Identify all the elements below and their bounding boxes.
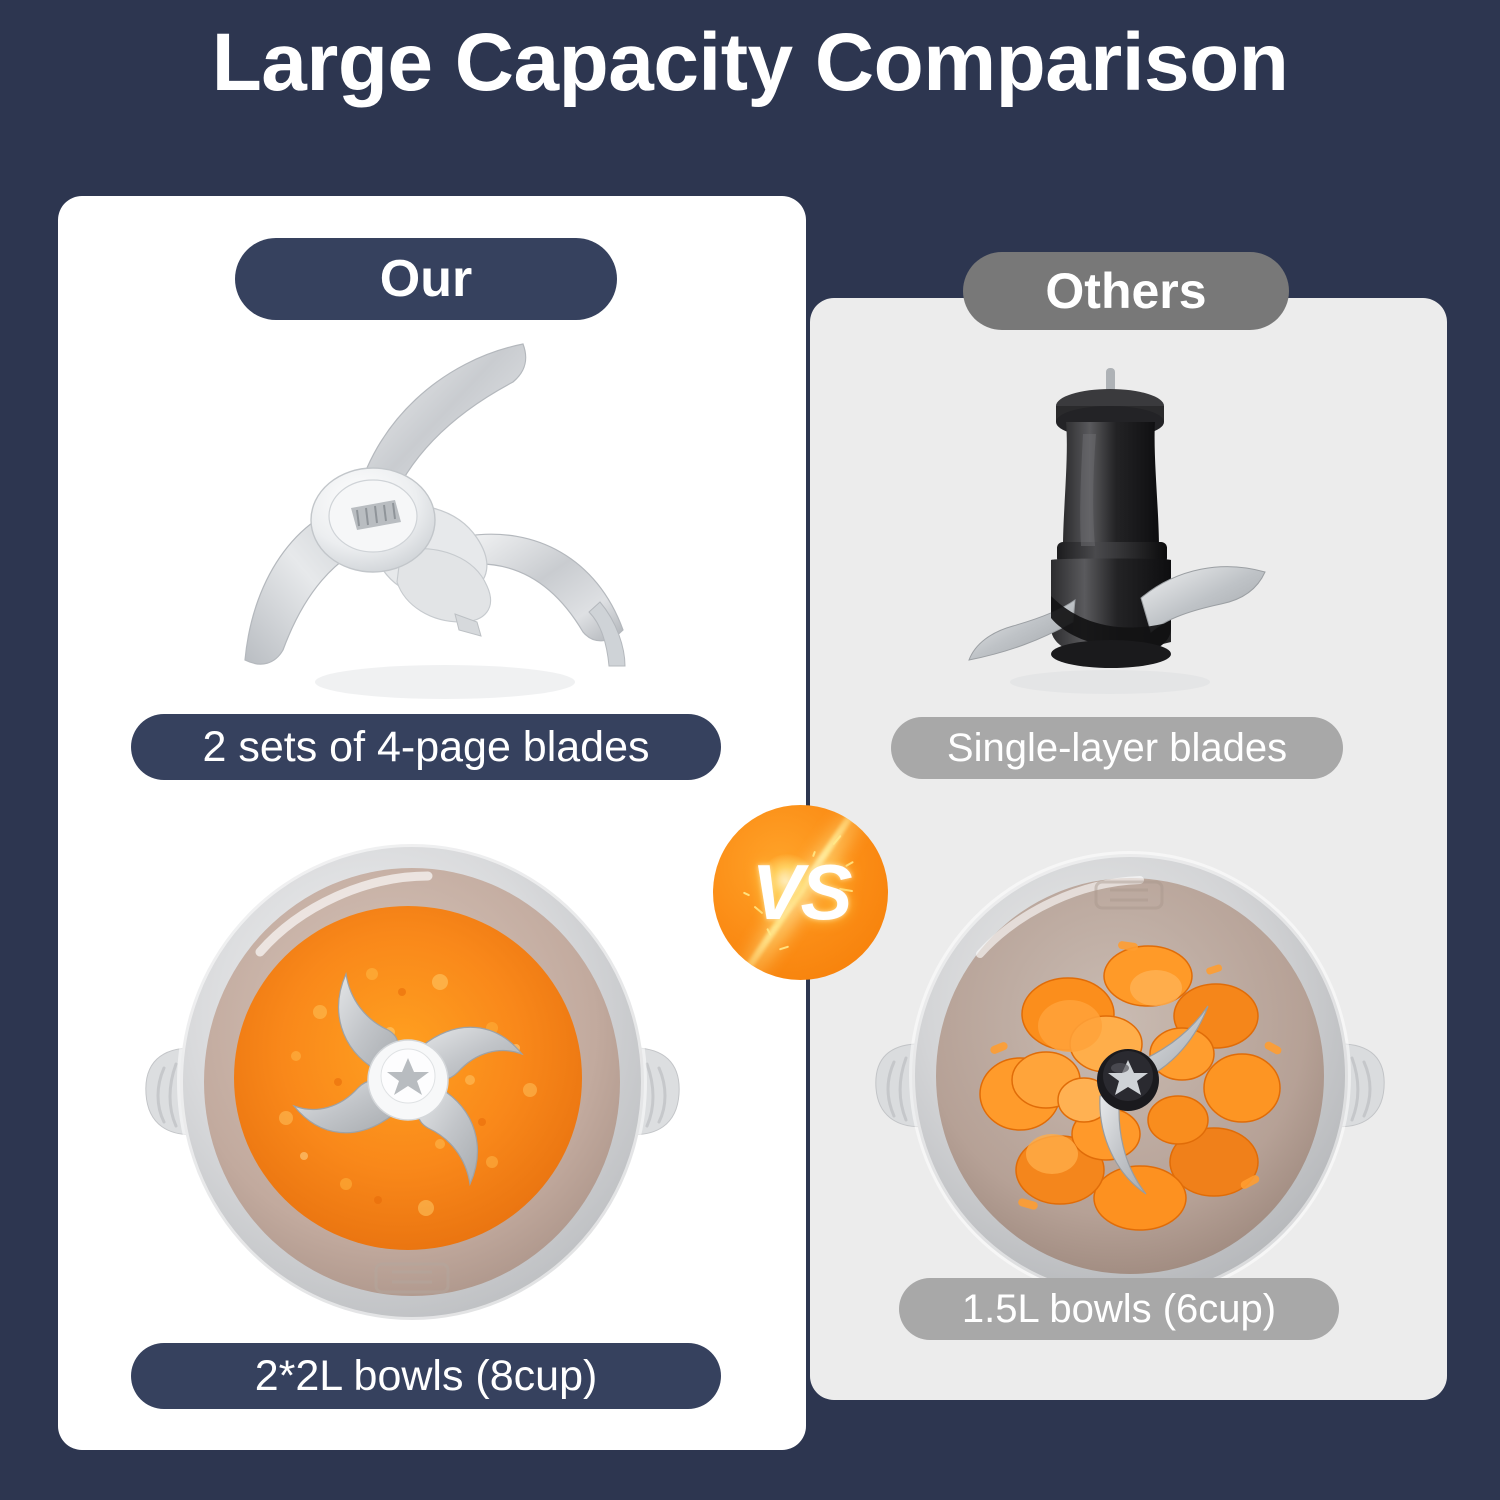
badge-our: Our xyxy=(235,238,617,320)
caption-our-blades: 2 sets of 4-page blades xyxy=(131,714,721,780)
single-layer-blade-photo xyxy=(905,360,1325,705)
four-page-blade-assembly-photo xyxy=(205,330,665,720)
bowl-with-finely-minced-carrot-photo xyxy=(140,832,685,1327)
vs-badge: VS xyxy=(713,805,888,980)
badge-others: Others xyxy=(963,252,1289,330)
vs-circle: VS xyxy=(713,805,888,980)
vs-label: VS xyxy=(713,805,888,980)
caption-others-bowl: 1.5L bowls (6cup) xyxy=(899,1278,1339,1340)
caption-our-bowl: 2*2L bowls (8cup) xyxy=(131,1343,721,1409)
page-title: Large Capacity Comparison xyxy=(0,18,1500,108)
caption-others-blades: Single-layer blades xyxy=(891,717,1343,779)
bowl-with-coarse-carrot-chunks-photo xyxy=(870,848,1390,1298)
